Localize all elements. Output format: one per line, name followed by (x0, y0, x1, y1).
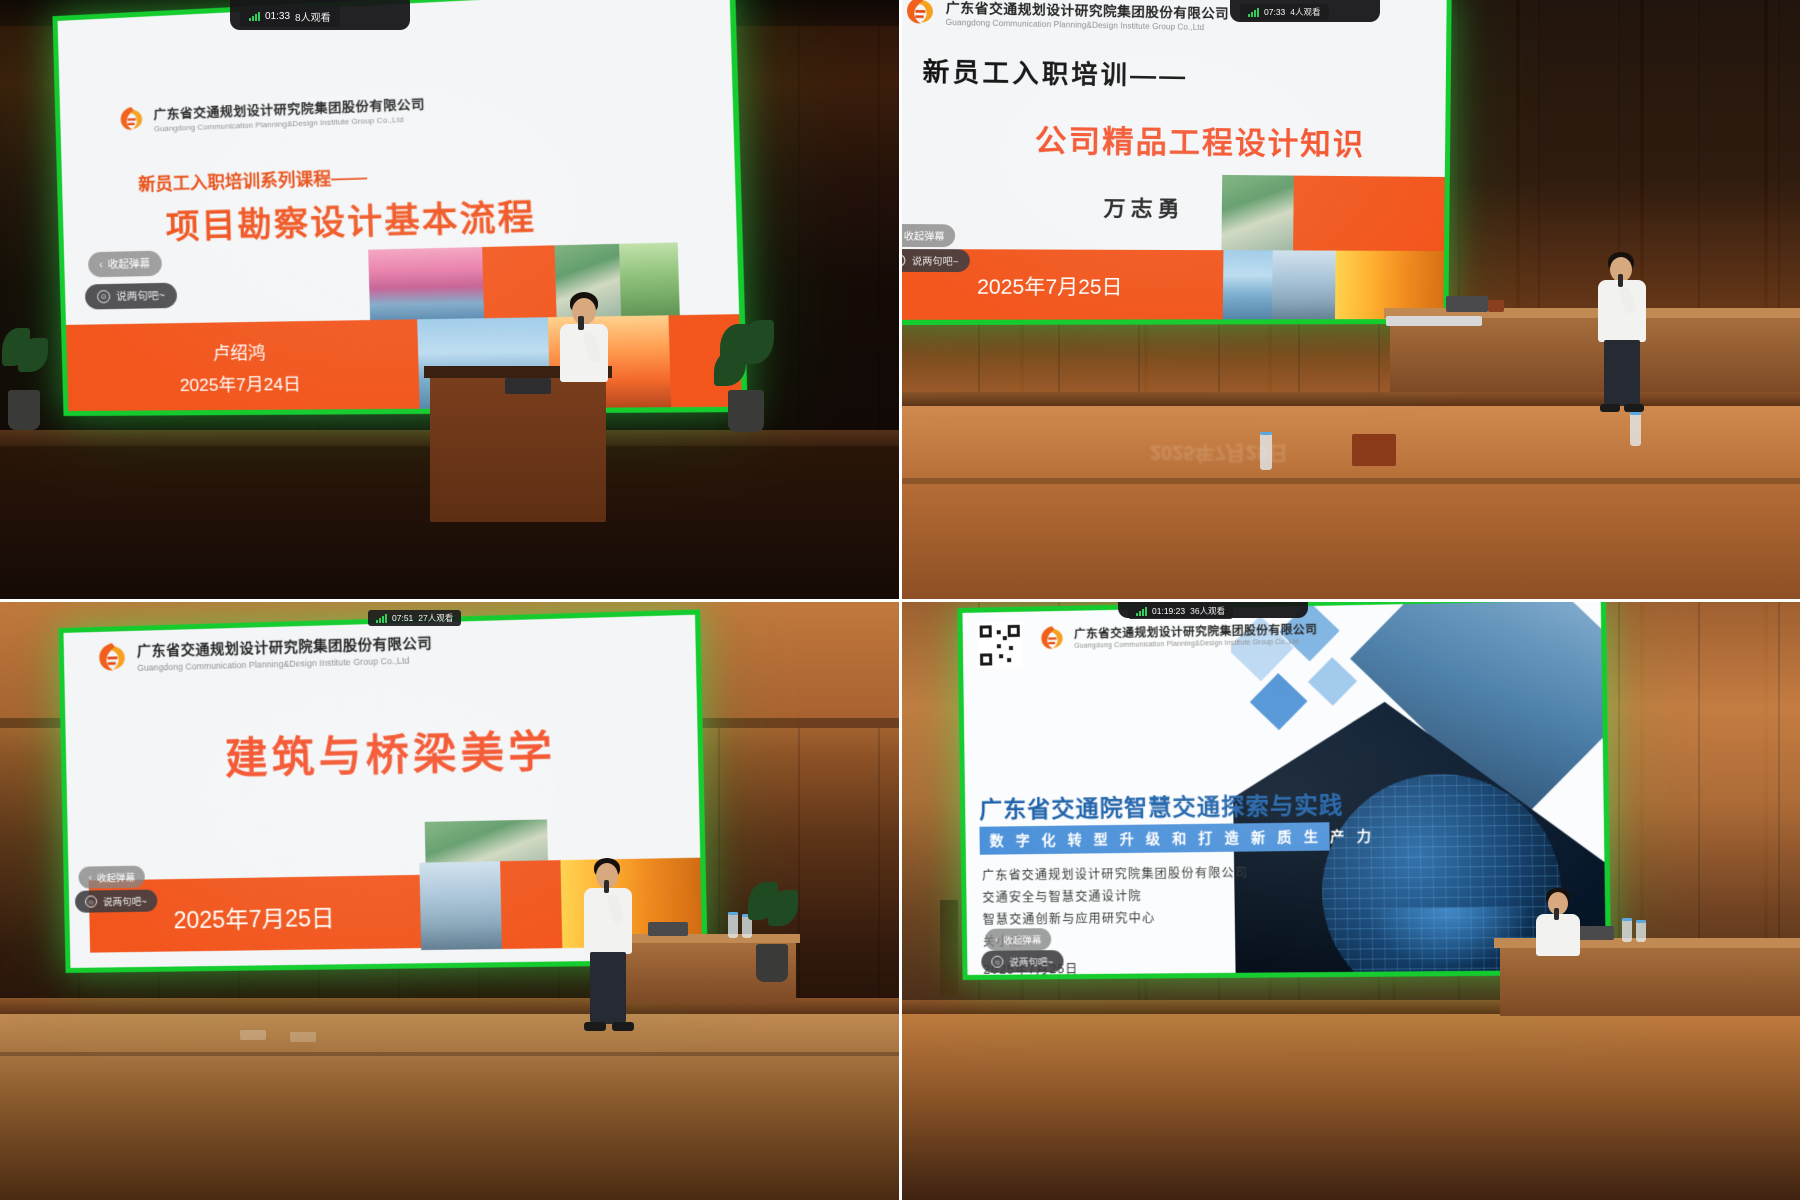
laptop (648, 922, 688, 936)
speaker-shoe (1600, 404, 1620, 412)
speaker-pants (590, 952, 626, 1024)
collapse-danmaku-label: 收起弹幕 (1003, 932, 1041, 946)
nameplate (1488, 300, 1504, 312)
door-handle-wall (940, 900, 958, 996)
speaker-pants (1604, 340, 1640, 406)
slide-header: 广东省交通规划设计研究院集团股份有限公司 Guangdong Communica… (1037, 618, 1318, 654)
panel-top-left: 广东省交通规划设计研究院集团股份有限公司 Guangdong Communica… (0, 0, 900, 600)
company-logo-icon (94, 639, 131, 676)
potted-plant (0, 326, 54, 436)
floor-seam (900, 478, 1800, 484)
photo-orange-block (500, 860, 562, 949)
slide-title: 广东省交通院智慧交通探索与实践 (979, 786, 1344, 825)
potted-plant (746, 882, 802, 986)
signal-bars-icon (1136, 607, 1147, 616)
speaker (578, 858, 648, 1038)
floor-marker (240, 1030, 266, 1040)
stream-timer: 01:19:23 (1152, 606, 1185, 616)
table-nameplate (1352, 434, 1396, 466)
speaker (556, 292, 626, 388)
chevron-left-icon: ‹ (88, 872, 91, 883)
photo-aerial (1221, 175, 1293, 251)
stream-timer: 07:51 (392, 613, 413, 623)
collapse-danmaku-button[interactable]: ‹ 收起弹幕 (985, 928, 1052, 951)
speaker-shoe (1624, 404, 1644, 412)
slide-banner: 数 字 化 转 型 升 级 和 打 造 新 质 生 产 力 (979, 822, 1329, 855)
stage-floor (900, 406, 1800, 600)
photo-orange-block (1293, 176, 1447, 251)
say-something-label: 说两句吧~ (912, 253, 959, 268)
speaker-shirt (560, 324, 608, 382)
say-something-button[interactable]: ☺ 说两句吧~ (75, 889, 157, 912)
slide-surface: 广东省交通规划设计研究院集团股份有限公司 Guangdong Communica… (962, 600, 1606, 975)
signal-bars-icon (1248, 8, 1259, 17)
stage-floor-2 (0, 1014, 900, 1200)
stream-timer: 01:33 (265, 11, 290, 22)
plant-leaf (768, 890, 798, 926)
company-logo-icon (901, 0, 938, 29)
smiley-icon: ☺ (85, 895, 97, 907)
smiley-icon: ☺ (97, 290, 110, 303)
say-something-button[interactable]: ☺ 说两句吧~ (900, 249, 969, 272)
slide-title: 建筑与桥梁美学 (224, 717, 556, 787)
plant-pot (8, 390, 40, 430)
slide-date: 2025年7月24日 (67, 362, 419, 397)
collapse-danmaku-button[interactable]: ‹ 收起弹幕 (900, 224, 955, 247)
slide-subtitle: 新员工入职培训—— (922, 52, 1188, 93)
artwork-diamond (1308, 657, 1357, 706)
floor-seam (0, 1052, 900, 1056)
water-bottle (1636, 920, 1646, 942)
qr-code-icon (977, 622, 1024, 669)
podium (430, 372, 606, 522)
slide-presenter: 万志勇 (1103, 192, 1184, 223)
water-bottle (728, 912, 738, 938)
plant-leaf (714, 350, 746, 386)
viewer-count: 8人观看 (295, 9, 331, 24)
smiley-icon: ☺ (991, 956, 1003, 968)
speaker-shoe (612, 1022, 634, 1031)
projection-screen: 广东省交通规划设计研究院集团股份有限公司 Guangdong Communica… (900, 0, 1452, 325)
say-something-button[interactable]: ☺ 说两句吧~ (981, 950, 1063, 973)
stream-status-bar: 01:19:23 36人观看 (1128, 603, 1233, 619)
slide-banner-text: 数 字 化 转 型 升 级 和 打 造 新 质 生 产 力 (990, 826, 1376, 851)
floor-marker (290, 1032, 316, 1042)
speaker (1530, 888, 1594, 958)
collapse-danmaku-button[interactable]: ‹ 收起弹幕 (78, 866, 145, 889)
microphone (578, 316, 584, 330)
photo-highway (1272, 250, 1336, 320)
photo-sea-bridge (1223, 250, 1273, 320)
slide-footer-band: 卢绍鸿 2025年7月24日 (66, 319, 420, 411)
water-bottle (1630, 412, 1641, 446)
collapse-danmaku-label: 收起弹幕 (904, 228, 945, 243)
microphone (1554, 908, 1559, 920)
viewer-count: 36人观看 (1190, 605, 1225, 617)
viewer-count: 4人观看 (1290, 6, 1320, 18)
signal-bars-icon (376, 614, 387, 623)
signal-bars-icon (249, 12, 260, 21)
slide-subtitle: 新员工入职培训系列课程—— (138, 163, 368, 196)
desk-equipment (505, 378, 551, 394)
potted-plant (714, 320, 780, 438)
say-something-label: 说两句吧~ (1009, 954, 1053, 968)
stream-status-bar: 07:51 27人观看 (368, 610, 461, 626)
plant-leaf (18, 338, 48, 372)
water-bottle (1622, 918, 1632, 942)
collapse-danmaku-label: 收起弹幕 (108, 256, 151, 272)
projection-screen: 广东省交通规划设计研究院集团股份有限公司 Guangdong Communica… (957, 600, 1611, 980)
slide-surface: 广东省交通规划设计研究院集团股份有限公司 Guangdong Communica… (900, 0, 1447, 320)
stream-status-bar: 01:33 8人观看 (240, 6, 340, 27)
photo-bridge-dusk (368, 247, 484, 320)
company-logo-icon (1037, 623, 1068, 654)
viewer-count: 27人观看 (418, 612, 453, 624)
stage-floor (900, 1014, 1800, 1200)
plant-pot (728, 390, 764, 432)
microphone (1618, 274, 1623, 287)
plant-pot (756, 944, 788, 982)
slide-info-line: 交通安全与智慧交通设计院 (982, 887, 1141, 906)
chevron-left-icon: ‹ (995, 934, 998, 945)
panel-top-right: 2025年7月25日 广东省交通规划设计研究院集团股份有限公司 Guangd (900, 0, 1800, 600)
photo-orange-block (482, 245, 556, 318)
slide-title: 公司精品工程设计知识 (1035, 115, 1366, 164)
company-logo-icon (116, 103, 147, 134)
speaker-head (572, 298, 596, 325)
slide-surface: 广东省交通规划设计研究院集团股份有限公司 Guangdong Communica… (58, 0, 742, 411)
panel-bottom-right: 广东省交通规划设计研究院集团股份有限公司 Guangdong Communica… (900, 600, 1800, 1200)
speaker (1588, 252, 1662, 422)
microphone (604, 880, 609, 893)
chevron-left-icon: ‹ (99, 258, 103, 270)
photo-green (619, 242, 680, 316)
projection-screen: 广东省交通规划设计研究院集团股份有限公司 Guangdong Communica… (52, 0, 747, 416)
say-something-button[interactable]: ☺ 说两句吧~ (85, 283, 178, 310)
collapse-danmaku-label: 收起弹幕 (97, 870, 135, 885)
say-something-label: 说两句吧~ (116, 288, 165, 304)
grid-divider-horizontal (0, 599, 1800, 602)
slide-info-line: 广东省交通规划设计研究院集团股份有限公司 (982, 864, 1249, 884)
slide-info-line: 智慧交通创新与应用研究中心 (983, 909, 1156, 928)
speaker-shirt (1536, 914, 1580, 956)
stream-timer: 07:33 (1264, 7, 1285, 17)
photo-highway (419, 861, 502, 950)
photo-grid: 广东省交通规划设计研究院集团股份有限公司 Guangdong Communica… (0, 0, 1800, 1200)
artwork-diamond (1250, 673, 1308, 730)
speaker-shoe (584, 1022, 606, 1031)
slide-header: 广东省交通规划设计研究院集团股份有限公司 Guangdong Communica… (901, 0, 1229, 35)
panel-bottom-left: 广东省交通规划设计研究院集团股份有限公司 Guangdong Communica… (0, 600, 900, 1200)
slide-photo-row-top (368, 242, 680, 320)
slide-title: 项目勘察设计基本流程 (165, 189, 537, 249)
slide-header: 广东省交通规划设计研究院集团股份有限公司 Guangdong Communica… (116, 92, 426, 135)
stream-status-bar: 07:33 4人观看 (1240, 4, 1329, 20)
collapse-danmaku-button[interactable]: ‹ 收起弹幕 (88, 251, 162, 278)
stage-edge (900, 392, 1800, 406)
slide-header: 广东省交通规划设计研究院集团股份有限公司 Guangdong Communica… (94, 630, 433, 676)
laptop (1446, 296, 1488, 312)
paper-sheet (1386, 316, 1482, 326)
say-something-label: 说两句吧~ (103, 894, 147, 909)
slide-photo-row (1221, 175, 1446, 251)
slide-presenter: 卢绍鸿 (66, 319, 418, 366)
water-bottle (1260, 432, 1272, 470)
